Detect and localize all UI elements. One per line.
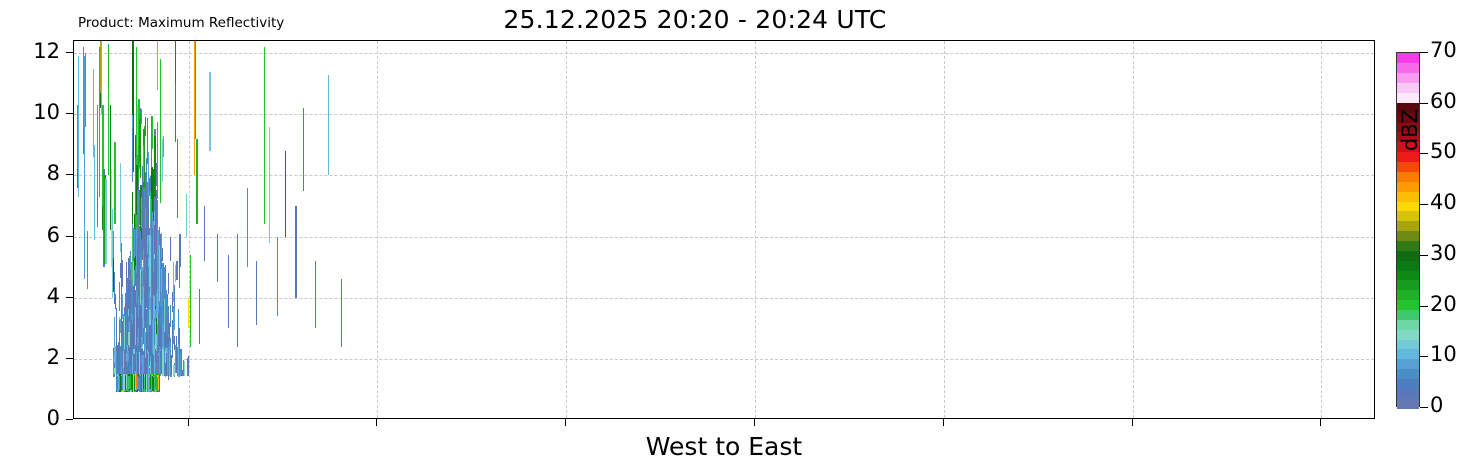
reflectivity-cell [143, 328, 144, 345]
colorbar-segment [1397, 221, 1419, 231]
reflectivity-cell [151, 237, 152, 310]
colorbar-segment [1397, 240, 1419, 250]
reflectivity-cell [138, 146, 139, 183]
reflectivity-cell [124, 352, 125, 374]
reflectivity-cell [190, 255, 191, 347]
reflectivity-cell [156, 228, 157, 257]
reflectivity-cell [134, 284, 135, 299]
reflectivity-cell [163, 136, 164, 157]
reflectivity-columns [74, 41, 1374, 418]
reflectivity-cell [125, 323, 126, 334]
reflectivity-cell [174, 336, 175, 350]
reflectivity-cell [126, 301, 127, 311]
reflectivity-cell [97, 194, 98, 228]
reflectivity-cell [186, 194, 187, 237]
colorbar-tick-label: 40 [1430, 192, 1457, 213]
reflectivity-cell [141, 109, 142, 124]
reflectivity-cell [173, 365, 174, 375]
colorbar-segment [1397, 53, 1419, 63]
reflectivity-cell [277, 237, 278, 316]
y-tick-mark [66, 174, 73, 175]
reflectivity-cell [157, 200, 158, 224]
reflectivity-cell [121, 260, 122, 275]
reflectivity-cell [143, 146, 144, 181]
reflectivity-cell [237, 234, 238, 347]
reflectivity-cell [328, 75, 329, 176]
y-tick-label: 8 [14, 163, 60, 184]
reflectivity-cell [168, 313, 169, 334]
colorbar-segment [1397, 250, 1419, 260]
x-tick-mark [1132, 419, 1133, 426]
reflectivity-cell [173, 262, 174, 302]
reflectivity-cell [135, 158, 136, 238]
colorbar-segment [1397, 329, 1419, 339]
colorbar-segment [1397, 359, 1419, 369]
reflectivity-cell [132, 230, 133, 284]
reflectivity-cell [303, 108, 304, 191]
colorbar-tick-mark [1420, 356, 1428, 357]
reflectivity-cell [155, 321, 156, 346]
reflectivity-cell [140, 231, 141, 270]
x-tick-mark [188, 419, 189, 426]
colorbar-tick-mark [1420, 306, 1428, 307]
reflectivity-cell [114, 272, 115, 304]
colorbar-segment [1397, 231, 1419, 241]
reflectivity-cell [108, 44, 109, 84]
reflectivity-cell [87, 231, 88, 289]
reflectivity-cell [140, 267, 141, 305]
reflectivity-cell [138, 354, 139, 375]
reflectivity-cell [141, 197, 142, 228]
reflectivity-cell [129, 376, 130, 389]
reflectivity-cell [175, 84, 176, 142]
reflectivity-cell [160, 59, 161, 203]
reflectivity-cell [120, 163, 121, 252]
reflectivity-cell [170, 237, 171, 261]
reflectivity-cell [158, 275, 159, 312]
reflectivity-cell [341, 279, 342, 346]
reflectivity-cell [93, 69, 94, 158]
reflectivity-cell [141, 373, 142, 390]
reflectivity-cell [143, 355, 144, 374]
reflectivity-cell [101, 41, 102, 114]
reflectivity-cell [264, 47, 265, 224]
reflectivity-cell [162, 248, 163, 261]
reflectivity-cell [178, 309, 179, 340]
reflectivity-cell [146, 158, 147, 197]
plot-area [73, 40, 1375, 419]
colorbar-segment [1397, 300, 1419, 310]
reflectivity-cell [172, 320, 173, 358]
reflectivity-cell [145, 117, 146, 136]
y-tick-label: 12 [14, 41, 60, 62]
reflectivity-cell [118, 347, 119, 374]
reflectivity-cell [135, 371, 136, 374]
reflectivity-cell [85, 53, 86, 126]
colorbar-tick-mark [1420, 407, 1428, 408]
reflectivity-cell [126, 361, 127, 374]
y-tick-label: 2 [14, 347, 60, 368]
reflectivity-cell [154, 136, 156, 197]
reflectivity-cell [175, 265, 176, 283]
reflectivity-cell [153, 377, 154, 391]
reflectivity-cell [179, 263, 180, 288]
y-tick-mark [66, 52, 73, 53]
reflectivity-cell [164, 360, 165, 376]
reflectivity-cell [94, 145, 95, 240]
reflectivity-cell [105, 179, 106, 265]
colorbar-segment [1397, 201, 1419, 211]
reflectivity-cell [142, 300, 143, 317]
reflectivity-cell [116, 352, 117, 374]
colorbar-segment [1397, 309, 1419, 319]
colorbar-segment [1397, 290, 1419, 300]
reflectivity-cell [132, 50, 133, 117]
colorbar-tick-mark [1420, 204, 1428, 205]
y-tick-mark [66, 358, 73, 359]
reflectivity-cell [199, 289, 200, 344]
reflectivity-cell [157, 377, 158, 391]
colorbar-tick-label: 60 [1430, 91, 1457, 112]
reflectivity-cell [135, 307, 136, 346]
reflectivity-cell [138, 189, 139, 221]
colorbar-tick-mark [1420, 255, 1428, 256]
x-tick-mark [376, 419, 377, 426]
reflectivity-cell [148, 373, 149, 392]
reflectivity-cell [155, 367, 156, 374]
product-annotation: Product: Maximum Reflectivity [78, 15, 284, 31]
colorbar-tick-label: 30 [1430, 243, 1457, 264]
colorbar-title: dBZ [1398, 70, 1422, 190]
reflectivity-cell [151, 168, 152, 199]
colorbar-segment [1397, 260, 1419, 270]
y-tick-label: 4 [14, 286, 60, 307]
colorbar-tick-label: 50 [1430, 141, 1457, 162]
reflectivity-cell [196, 139, 197, 225]
reflectivity-cell [170, 305, 171, 327]
x-tick-mark [565, 419, 566, 426]
x-tick-mark [943, 419, 944, 426]
reflectivity-cell [128, 290, 129, 309]
reflectivity-cell [209, 72, 210, 151]
reflectivity-cell [170, 350, 171, 376]
reflectivity-cell [154, 259, 155, 296]
reflectivity-cell [149, 368, 150, 374]
reflectivity-cell [127, 278, 128, 291]
reflectivity-cell [157, 345, 158, 374]
reflectivity-cell [217, 234, 218, 283]
reflectivity-cell [176, 261, 177, 280]
reflectivity-cell [136, 373, 137, 389]
reflectivity-cell [149, 235, 151, 287]
y-tick-label: 6 [14, 225, 60, 246]
reflectivity-cell [159, 230, 160, 244]
reflectivity-cell [141, 364, 142, 374]
reflectivity-cell [183, 360, 184, 376]
reflectivity-cell [114, 368, 115, 374]
reflectivity-cell [174, 308, 175, 330]
radar-reflectivity-figure: 25.12.2025 20:20 - 20:24 UTC Product: Ma… [0, 0, 1482, 470]
reflectivity-cell [247, 188, 248, 267]
reflectivity-cell [177, 139, 178, 218]
reflectivity-cell [132, 192, 133, 224]
reflectivity-cell [151, 116, 152, 174]
reflectivity-cell [132, 128, 133, 182]
reflectivity-cell [158, 312, 159, 347]
reflectivity-cell [195, 41, 196, 139]
reflectivity-cell [177, 347, 178, 375]
reflectivity-cell [147, 310, 148, 334]
reflectivity-cell [125, 376, 126, 390]
colorbar-segment [1397, 388, 1419, 398]
colorbar-segment [1397, 339, 1419, 349]
reflectivity-cell [152, 355, 153, 374]
reflectivity-cell [157, 41, 158, 90]
reflectivity-cell [166, 356, 167, 375]
colorbar-tick-label: 20 [1430, 294, 1457, 315]
colorbar-segment [1397, 349, 1419, 359]
y-tick-mark [66, 113, 73, 114]
reflectivity-cell [131, 373, 132, 390]
reflectivity-cell [228, 255, 229, 328]
x-tick-mark [1320, 419, 1321, 426]
colorbar-segment [1397, 319, 1419, 329]
colorbar-segment [1397, 191, 1419, 201]
reflectivity-cell [130, 366, 131, 374]
reflectivity-cell [160, 358, 161, 375]
reflectivity-cell [147, 196, 148, 235]
reflectivity-cell [168, 273, 169, 294]
reflectivity-cell [124, 316, 125, 350]
reflectivity-cell [151, 346, 152, 374]
reflectivity-cell [120, 263, 121, 279]
reflectivity-cell [121, 376, 122, 391]
colorbar-tick-label: 70 [1430, 40, 1457, 61]
reflectivity-cell [165, 284, 167, 328]
x-axis-label: West to East [73, 432, 1375, 461]
y-tick-label: 0 [14, 408, 60, 429]
colorbar-tick-label: 10 [1430, 344, 1457, 365]
y-tick-label: 10 [14, 102, 60, 123]
reflectivity-cell [204, 206, 205, 261]
colorbar-segment [1397, 211, 1419, 221]
reflectivity-cell [315, 261, 316, 328]
x-tick-mark [754, 419, 755, 426]
colorbar-tick-label: 0 [1430, 395, 1443, 416]
reflectivity-cell [114, 317, 115, 348]
colorbar-segment [1397, 398, 1419, 408]
reflectivity-cell [188, 298, 189, 329]
reflectivity-cell [78, 56, 79, 197]
y-tick-mark [66, 419, 73, 420]
colorbar-segment [1397, 378, 1419, 388]
reflectivity-cell [188, 367, 189, 376]
reflectivity-cell [295, 206, 296, 298]
reflectivity-cell [114, 142, 115, 225]
reflectivity-cell [143, 373, 144, 389]
y-tick-mark [66, 236, 73, 237]
reflectivity-cell [118, 374, 119, 391]
reflectivity-cell [144, 332, 145, 351]
colorbar-segment [1397, 280, 1419, 290]
reflectivity-cell [138, 317, 139, 327]
colorbar-segment [1397, 270, 1419, 280]
reflectivity-cell [144, 214, 145, 254]
reflectivity-cell [123, 374, 124, 391]
reflectivity-cell [131, 280, 132, 314]
reflectivity-cell [152, 116, 153, 148]
reflectivity-cell [142, 374, 143, 390]
reflectivity-cell [119, 282, 120, 311]
reflectivity-cell [146, 352, 147, 374]
colorbar-tick-mark [1420, 52, 1428, 53]
reflectivity-cell [256, 261, 257, 325]
reflectivity-cell [138, 233, 139, 284]
reflectivity-cell [157, 122, 158, 199]
colorbar-segment [1397, 369, 1419, 379]
reflectivity-cell [169, 350, 170, 376]
reflectivity-cell [269, 127, 270, 243]
y-tick-mark [66, 297, 73, 298]
reflectivity-cell [149, 310, 150, 325]
reflectivity-cell [285, 151, 286, 237]
reflectivity-cell [161, 307, 162, 349]
